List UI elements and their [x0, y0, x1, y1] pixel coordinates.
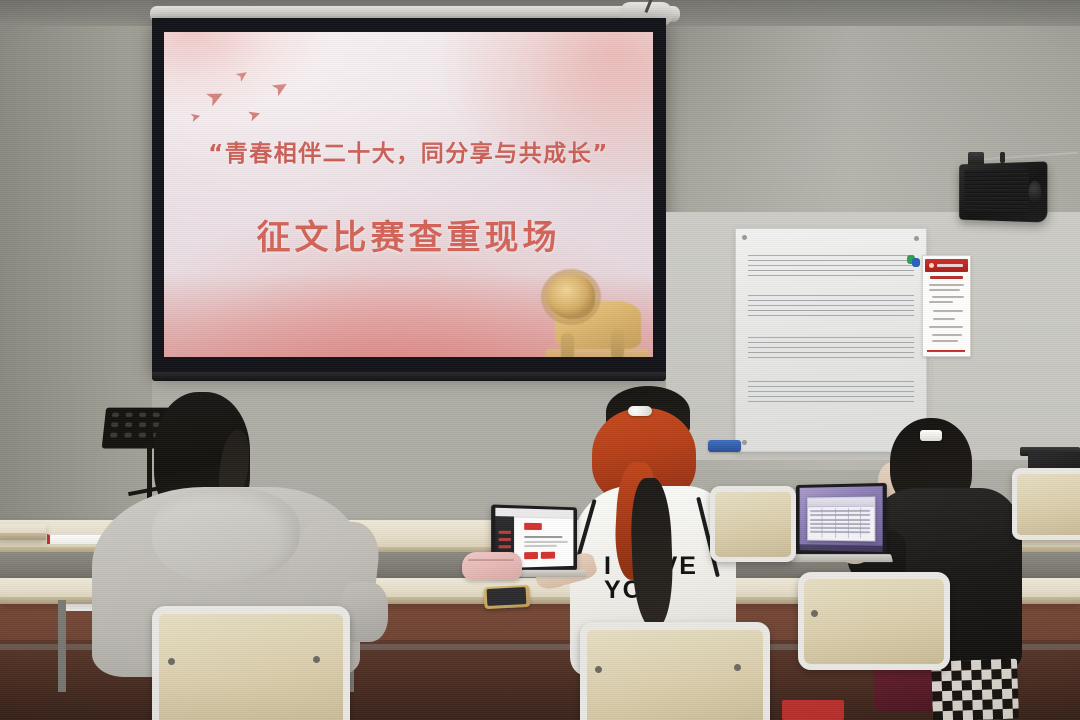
- primary-action-button[interactable]: [524, 523, 542, 530]
- poster-header-banner: [925, 259, 968, 272]
- chair-bolt: [313, 656, 320, 663]
- laptop-screen-right[interactable]: [800, 486, 883, 552]
- poster-logo-icon: [929, 263, 934, 268]
- poster-body-line: [929, 284, 964, 286]
- chair-backrest: [152, 606, 350, 720]
- blue-magnet: [912, 258, 920, 267]
- chair-right[interactable]: [798, 572, 938, 658]
- poster-body-line: [932, 334, 962, 336]
- chair-backrest: [798, 572, 950, 670]
- slide-glare: [164, 32, 653, 357]
- poster-body-line: [932, 340, 958, 342]
- chair-far-right[interactable]: [1012, 468, 1080, 530]
- poster-body-line: [933, 318, 955, 320]
- staff-group: [748, 255, 914, 280]
- poster-footer-rule: [927, 350, 965, 352]
- speaker-driver-icon: [1029, 180, 1041, 203]
- desk-left-small: [0, 524, 46, 540]
- chair-bolt: [811, 610, 818, 617]
- sidebar-item[interactable]: [499, 531, 511, 534]
- chair-backrest: [1012, 468, 1080, 540]
- sheet-row: [810, 523, 870, 525]
- staff-group: [748, 381, 914, 406]
- poster-body-line: [932, 296, 964, 298]
- poster-body-line: [929, 326, 963, 328]
- projected-slide: ➤ ➤ ➤ ➤ ➤ “青春相伴二十大，同分享与共成长” 征文比赛查重现场: [164, 32, 653, 357]
- spreadsheet-ribbon[interactable]: [808, 498, 874, 507]
- hair-clip: [920, 430, 942, 441]
- chair-bolt: [168, 658, 175, 665]
- chair-bolt: [734, 664, 741, 671]
- poster-body-line: [933, 310, 963, 312]
- chair-left[interactable]: [152, 606, 336, 720]
- page-text: [524, 545, 557, 547]
- chair-center[interactable]: [580, 622, 756, 720]
- poster-body-line: [929, 301, 953, 303]
- wall-speaker: [959, 161, 1047, 222]
- sheet-row: [810, 518, 870, 520]
- chair-backrest: [710, 486, 796, 562]
- spreadsheet-window[interactable]: [807, 497, 875, 542]
- chair-bolt: [595, 666, 602, 673]
- sheet-row: [810, 531, 870, 534]
- floor-label-sticker: [782, 700, 844, 720]
- sheet-row: [810, 510, 870, 512]
- laptop-keyboard-base[interactable]: [791, 554, 893, 562]
- sheet-row: [810, 527, 870, 529]
- poster-title-line: [930, 276, 963, 279]
- speaker-grill: [964, 168, 1028, 213]
- pouch-zipper: [468, 559, 514, 561]
- pink-pouch[interactable]: [462, 552, 522, 580]
- secondary-button[interactable]: [541, 552, 555, 559]
- laptop-right[interactable]: [794, 484, 894, 576]
- staff-group: [748, 337, 914, 362]
- projection-screen: ➤ ➤ ➤ ➤ ➤ “青春相伴二十大，同分享与共成长” 征文比赛查重现场: [152, 18, 666, 374]
- board-screw: [742, 235, 747, 240]
- hair-clip: [628, 406, 652, 416]
- classroom-photo: ➤ ➤ ➤ ➤ ➤ “青春相伴二十大，同分享与共成长” 征文比赛查重现场: [0, 0, 1080, 720]
- submit-button[interactable]: [524, 552, 538, 559]
- sidebar-item[interactable]: [499, 545, 511, 548]
- sidebar-item[interactable]: [499, 538, 511, 541]
- page-text: [524, 541, 568, 543]
- chair-backrest: [580, 622, 770, 720]
- speaker-mount-bolt: [1000, 152, 1005, 163]
- phone-screen[interactable]: [487, 587, 527, 606]
- board-screw: [914, 236, 919, 241]
- phone-with-gold-case[interactable]: [483, 585, 530, 609]
- wall-notice-poster: [922, 255, 971, 357]
- poster-body-line: [929, 289, 960, 291]
- desk-edge: [0, 533, 46, 540]
- staff-group: [748, 295, 914, 320]
- page-heading: [524, 536, 562, 538]
- chair-center-back[interactable]: [710, 486, 786, 552]
- poster-header-text: [937, 264, 963, 267]
